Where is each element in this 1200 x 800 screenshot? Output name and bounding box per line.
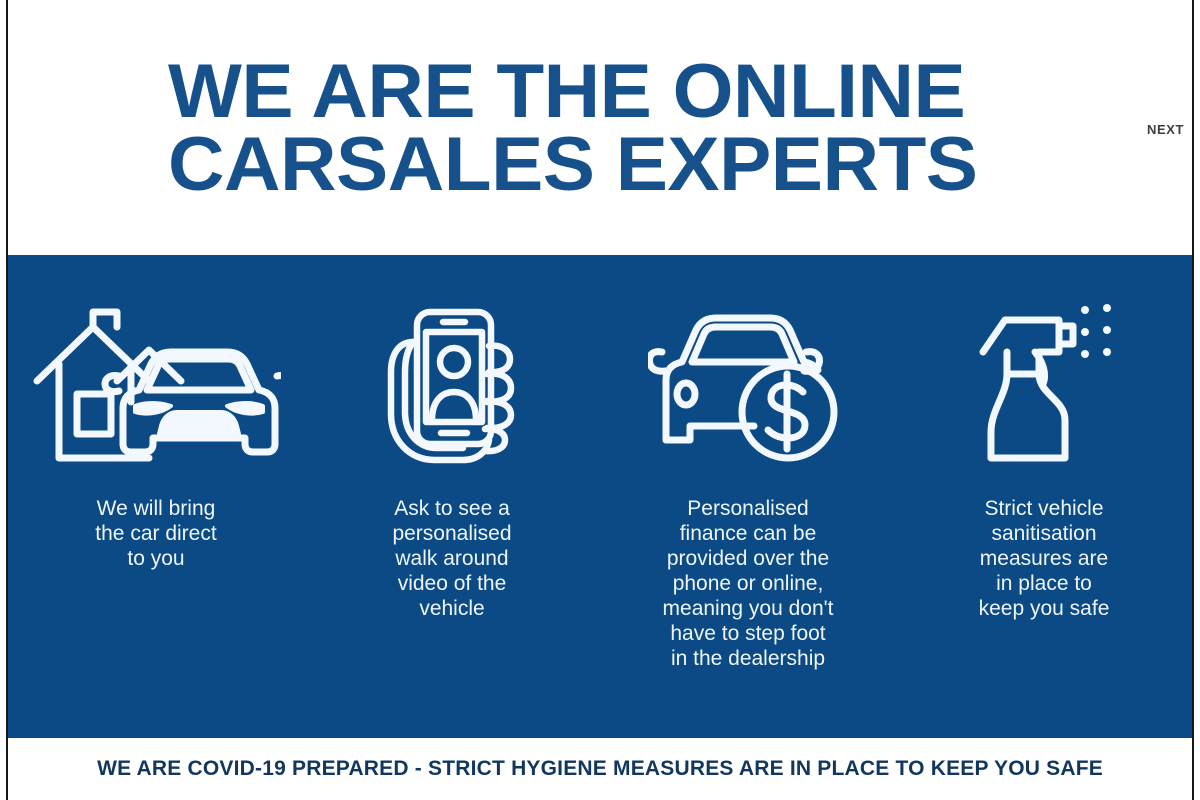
feature-band: We will bring the car direct to you: [8, 255, 1192, 738]
house-with-car-icon: [31, 301, 281, 471]
feature-caption: Personalised finance can be provided ove…: [663, 497, 834, 672]
hand-holding-phone-icon: [377, 301, 527, 471]
car-with-dollar-coin-icon: [648, 301, 848, 471]
feature-caption: Strict vehicle sanitisation measures are…: [979, 497, 1110, 622]
next-button[interactable]: NEXT: [1147, 122, 1184, 137]
page-title: WE ARE THE ONLINE CARSALES EXPERTS: [168, 56, 1095, 202]
feature-item-home-delivery: We will bring the car direct to you: [8, 301, 304, 572]
feature-caption: We will bring the car direct to you: [95, 497, 216, 572]
feature-item-sanitisation: Strict vehicle sanitisation measures are…: [896, 301, 1192, 622]
headline-section: WE ARE THE ONLINE CARSALES EXPERTS NEXT: [8, 0, 1192, 255]
feature-item-finance: Personalised finance can be provided ove…: [600, 301, 896, 672]
feature-list: We will bring the car direct to you: [8, 255, 1192, 738]
feature-item-video-walkaround: Ask to see a personalised walk around vi…: [304, 301, 600, 622]
feature-caption: Ask to see a personalised walk around vi…: [392, 497, 511, 622]
covid-safety-message: WE ARE COVID-19 PREPARED - STRICT HYGIEN…: [97, 757, 1103, 781]
footer-strip: WE ARE COVID-19 PREPARED - STRICT HYGIEN…: [8, 738, 1192, 800]
spray-bottle-icon: [969, 301, 1119, 471]
frame-rule-right: [1192, 0, 1194, 800]
promotional-banner: WE ARE THE ONLINE CARSALES EXPERTS NEXT: [0, 0, 1200, 800]
